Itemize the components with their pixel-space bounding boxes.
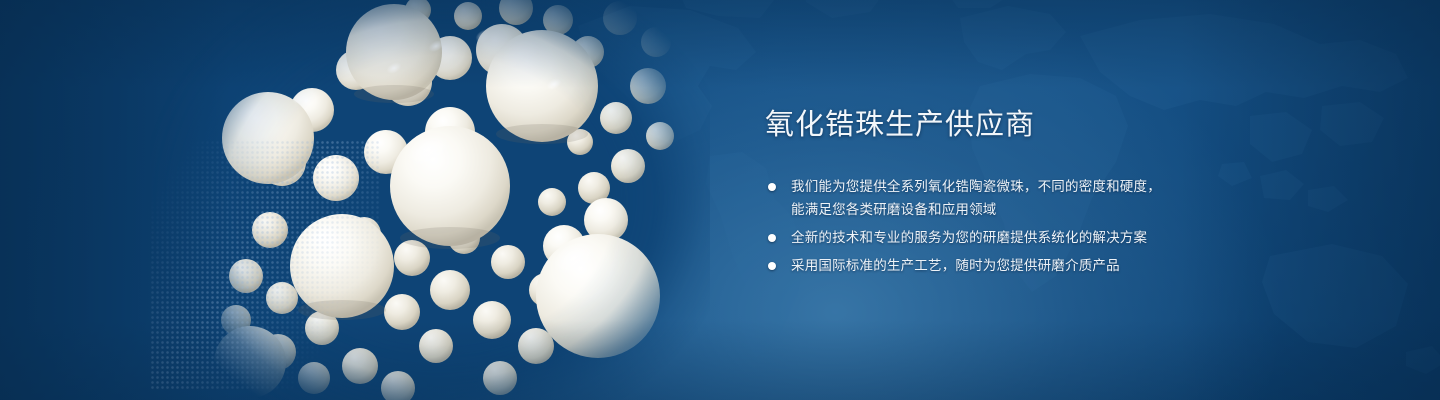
- bullet-dot-icon: [768, 183, 776, 191]
- zirconia-beads-image: [150, 0, 710, 400]
- banner-headline: 氧化锆珠生产供应商: [765, 108, 1385, 143]
- hero-banner: 氧化锆珠生产供应商 我们能为您提供全系列氧化锆陶瓷微珠，不同的密度和硬度， 能满…: [0, 0, 1440, 400]
- bullet-dot-icon: [768, 234, 776, 242]
- list-item: 全新的技术和专业的服务为您的研磨提供系统化的解决方案: [765, 226, 1385, 249]
- bullet-text-line-2: 能满足您各类研磨设备和应用领域: [791, 198, 1385, 221]
- banner-bullet-list: 我们能为您提供全系列氧化锆陶瓷微珠，不同的密度和硬度， 能满足您各类研磨设备和应…: [765, 175, 1385, 277]
- beads-photo-canvas: [150, 0, 710, 400]
- banner-copy: 氧化锆珠生产供应商 我们能为您提供全系列氧化锆陶瓷微珠，不同的密度和硬度， 能满…: [765, 108, 1385, 282]
- bullet-text-line-1: 全新的技术和专业的服务为您的研磨提供系统化的解决方案: [791, 230, 1147, 245]
- list-item: 我们能为您提供全系列氧化锆陶瓷微珠，不同的密度和硬度， 能满足您各类研磨设备和应…: [765, 175, 1385, 221]
- bullet-text-line-1: 采用国际标准的生产工艺，随时为您提供研磨介质产品: [791, 258, 1120, 273]
- list-item: 采用国际标准的生产工艺，随时为您提供研磨介质产品: [765, 254, 1385, 277]
- bullet-text-line-1: 我们能为您提供全系列氧化锆陶瓷微珠，不同的密度和硬度，: [791, 179, 1161, 194]
- bullet-dot-icon: [768, 262, 776, 270]
